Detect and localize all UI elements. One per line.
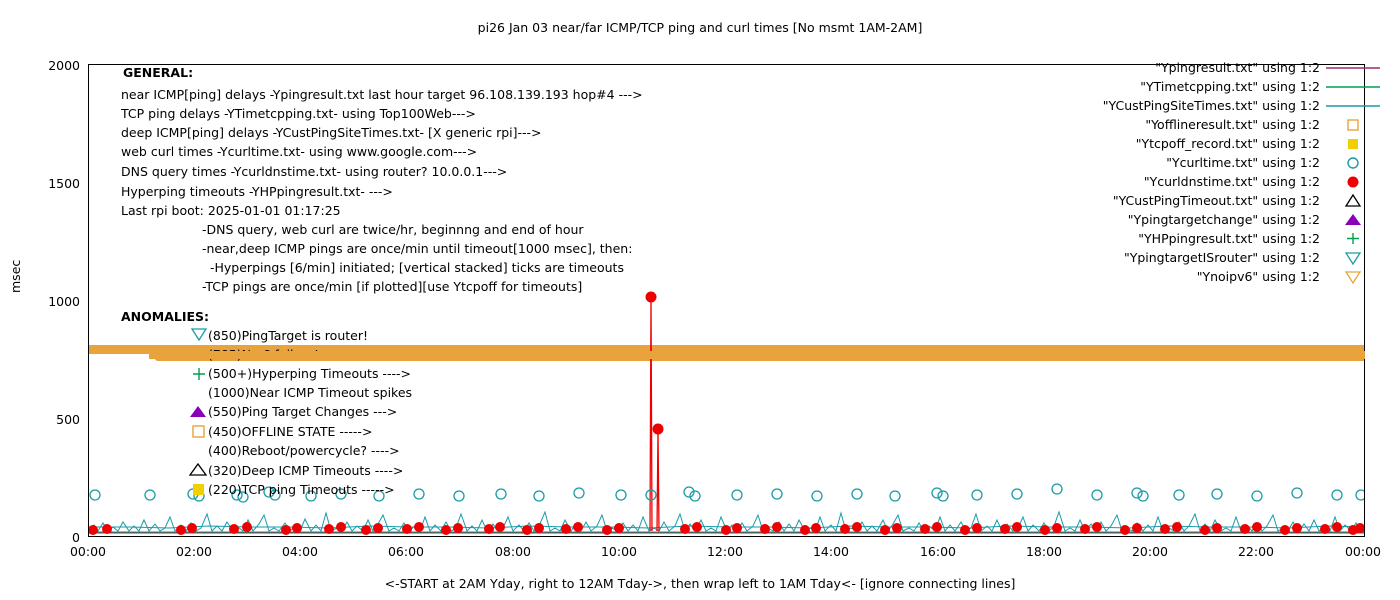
- y-tick-0: 0: [46, 530, 80, 545]
- x-tick-7: 14:00: [806, 544, 856, 559]
- legend-key-open-triangle-down: [1324, 250, 1382, 265]
- legend-item-7: "YCustPingTimeout.txt" using 1:2: [860, 193, 1400, 208]
- legend-item-8: "Ypingtargetchange" using 1:2: [860, 212, 1400, 227]
- open-triangle-up-icon: [188, 462, 208, 477]
- anomaly-text-5: (450)OFFLINE STATE ----->: [208, 424, 372, 439]
- filled-square-icon: [190, 482, 206, 497]
- open-square-icon: [190, 424, 206, 439]
- anomalies-heading: ANOMALIES:: [121, 309, 209, 324]
- legend-key-line-2: [1324, 98, 1382, 113]
- legend-label-10: "YpingtargetISrouter" using 1:2: [1124, 250, 1320, 265]
- y-tick-1500: 1500: [46, 176, 80, 191]
- legend-item-6: "Ycurldnstime.txt" using 1:2: [860, 174, 1400, 189]
- legend-label-11: "Ynoipv6" using 1:2: [1197, 269, 1320, 284]
- anomaly-text-6: (400)Reboot/powercycle? ---->: [208, 443, 400, 458]
- general-subline-0: -DNS query, web curl are twice/hr, begin…: [202, 222, 584, 237]
- anomaly-text-4: (550)Ping Target Changes --->: [208, 404, 397, 419]
- legend-key-open-circle: [1324, 155, 1382, 170]
- general-line-2: deep ICMP[ping] delays -YCustPingSiteTim…: [121, 125, 542, 140]
- general-line-4: DNS query times -Ycurldnstime.txt- using…: [121, 164, 507, 179]
- legend-label-8: "Ypingtargetchange" using 1:2: [1128, 212, 1320, 227]
- general-line-5: Hyperping timeouts -YHPpingresult.txt- -…: [121, 184, 393, 199]
- legend-key-line-1: [1324, 79, 1382, 94]
- x-tick-2: 04:00: [275, 544, 325, 559]
- legend-item-3: "Yofflineresult.txt" using 1:2: [860, 117, 1400, 132]
- x-tick-1: 02:00: [169, 544, 219, 559]
- dns-peak-point-565: [653, 424, 664, 435]
- legend-key-open-triangle-down-2: [1324, 269, 1382, 284]
- general-line-0: near ICMP[ping] delays -Ypingresult.txt …: [121, 87, 643, 102]
- plus-icon: [190, 366, 208, 382]
- x-tick-9: 18:00: [1019, 544, 1069, 559]
- anomaly-text-7: (320)Deep ICMP Timeouts ---->: [208, 463, 403, 478]
- legend-item-0: "Ypingresult.txt" using 1:2: [860, 60, 1400, 75]
- dns-peak-point-1000: [646, 292, 657, 303]
- x-tick-12: 00:00: [1338, 544, 1388, 559]
- x-tick-6: 12:00: [700, 544, 750, 559]
- legend-item-1: "YTimetcpping.txt" using 1:2: [860, 79, 1400, 94]
- legend-key-open-square: [1324, 117, 1382, 132]
- legend: "Ypingresult.txt" using 1:2 "YTimetcppin…: [860, 60, 1400, 355]
- x-tick-5: 10:00: [594, 544, 644, 559]
- legend-key-filled-triangle-up: [1324, 212, 1382, 227]
- filled-triangle-up-icon: [188, 404, 208, 419]
- y-axis-label: msec: [8, 260, 23, 293]
- legend-key-line-0: [1324, 60, 1382, 75]
- x-tick-0: 00:00: [63, 544, 113, 559]
- x-axis-label: <-START at 2AM Yday, right to 12AM Tday-…: [0, 576, 1400, 591]
- general-line-6: Last rpi boot: 2025-01-01 01:17:25: [121, 203, 341, 218]
- chart-page: pi26 Jan 03 near/far ICMP/TCP ping and c…: [0, 0, 1400, 600]
- x-tick-11: 22:00: [1231, 544, 1281, 559]
- legend-item-10: "YpingtargetISrouter" using 1:2: [860, 250, 1400, 265]
- legend-label-3: "Yofflineresult.txt" using 1:2: [1145, 117, 1320, 132]
- general-subline-2: -Hyperpings [6/min] initiated; [vertical…: [210, 260, 624, 275]
- general-subline-1: -near,deep ICMP pings are once/min until…: [202, 241, 632, 256]
- anomaly-text-3: (1000)Near ICMP Timeout spikes: [208, 385, 412, 400]
- x-tick-10: 20:00: [1125, 544, 1175, 559]
- y-tick-2000: 2000: [46, 58, 80, 73]
- legend-label-1: "YTimetcpping.txt" using 1:2: [1140, 79, 1320, 94]
- anomaly-text-8: (220)TCP ping Timeouts ----->: [208, 482, 395, 497]
- open-triangle-down-icon: [190, 327, 208, 341]
- y-tick-1000: 1000: [46, 294, 80, 309]
- y-tick-500: 500: [46, 412, 80, 427]
- general-subline-3: -TCP pings are once/min [if plotted][use…: [202, 279, 582, 294]
- general-line-1: TCP ping delays -YTimetcpping.txt- using…: [121, 106, 476, 121]
- legend-key-plus: [1324, 231, 1382, 246]
- general-line-3: web curl times -Ycurltime.txt- using www…: [121, 144, 477, 159]
- legend-label-4: "Ytcpoff_record.txt" using 1:2: [1136, 136, 1320, 151]
- legend-item-2: "YCustPingSiteTimes.txt" using 1:2: [860, 98, 1400, 113]
- legend-label-2: "YCustPingSiteTimes.txt" using 1:2: [1103, 98, 1320, 113]
- legend-item-11: "Ynoipv6" using 1:2: [860, 269, 1400, 284]
- x-tick-3: 06:00: [381, 544, 431, 559]
- anomaly-text-2: (500+)Hyperping Timeouts ---->: [208, 366, 411, 381]
- legend-label-6: "Ycurldnstime.txt" using 1:2: [1144, 174, 1320, 189]
- legend-item-4: "Ytcpoff_record.txt" using 1:2: [860, 136, 1400, 151]
- chart-title: pi26 Jan 03 near/far ICMP/TCP ping and c…: [0, 20, 1400, 35]
- legend-key-open-triangle-up: [1324, 193, 1382, 208]
- legend-key-filled-square: [1324, 136, 1382, 151]
- legend-label-9: "YHPpingresult.txt" using 1:2: [1138, 231, 1320, 246]
- legend-label-0: "Ypingresult.txt" using 1:2: [1155, 60, 1320, 75]
- legend-label-5: "Ycurltime.txt" using 1:2: [1166, 155, 1320, 170]
- legend-item-5: "Ycurltime.txt" using 1:2: [860, 155, 1400, 170]
- dns-spike-group: [650, 298, 659, 531]
- anomaly-text-0: (850)PingTarget is router!: [208, 328, 368, 343]
- legend-key-filled-circle: [1324, 174, 1382, 189]
- legend-item-9: "YHPpingresult.txt" using 1:2: [860, 231, 1400, 246]
- legend-label-7: "YCustPingTimeout.txt" using 1:2: [1113, 193, 1320, 208]
- general-heading: GENERAL:: [123, 65, 193, 80]
- x-tick-8: 16:00: [913, 544, 963, 559]
- x-tick-4: 08:00: [488, 544, 538, 559]
